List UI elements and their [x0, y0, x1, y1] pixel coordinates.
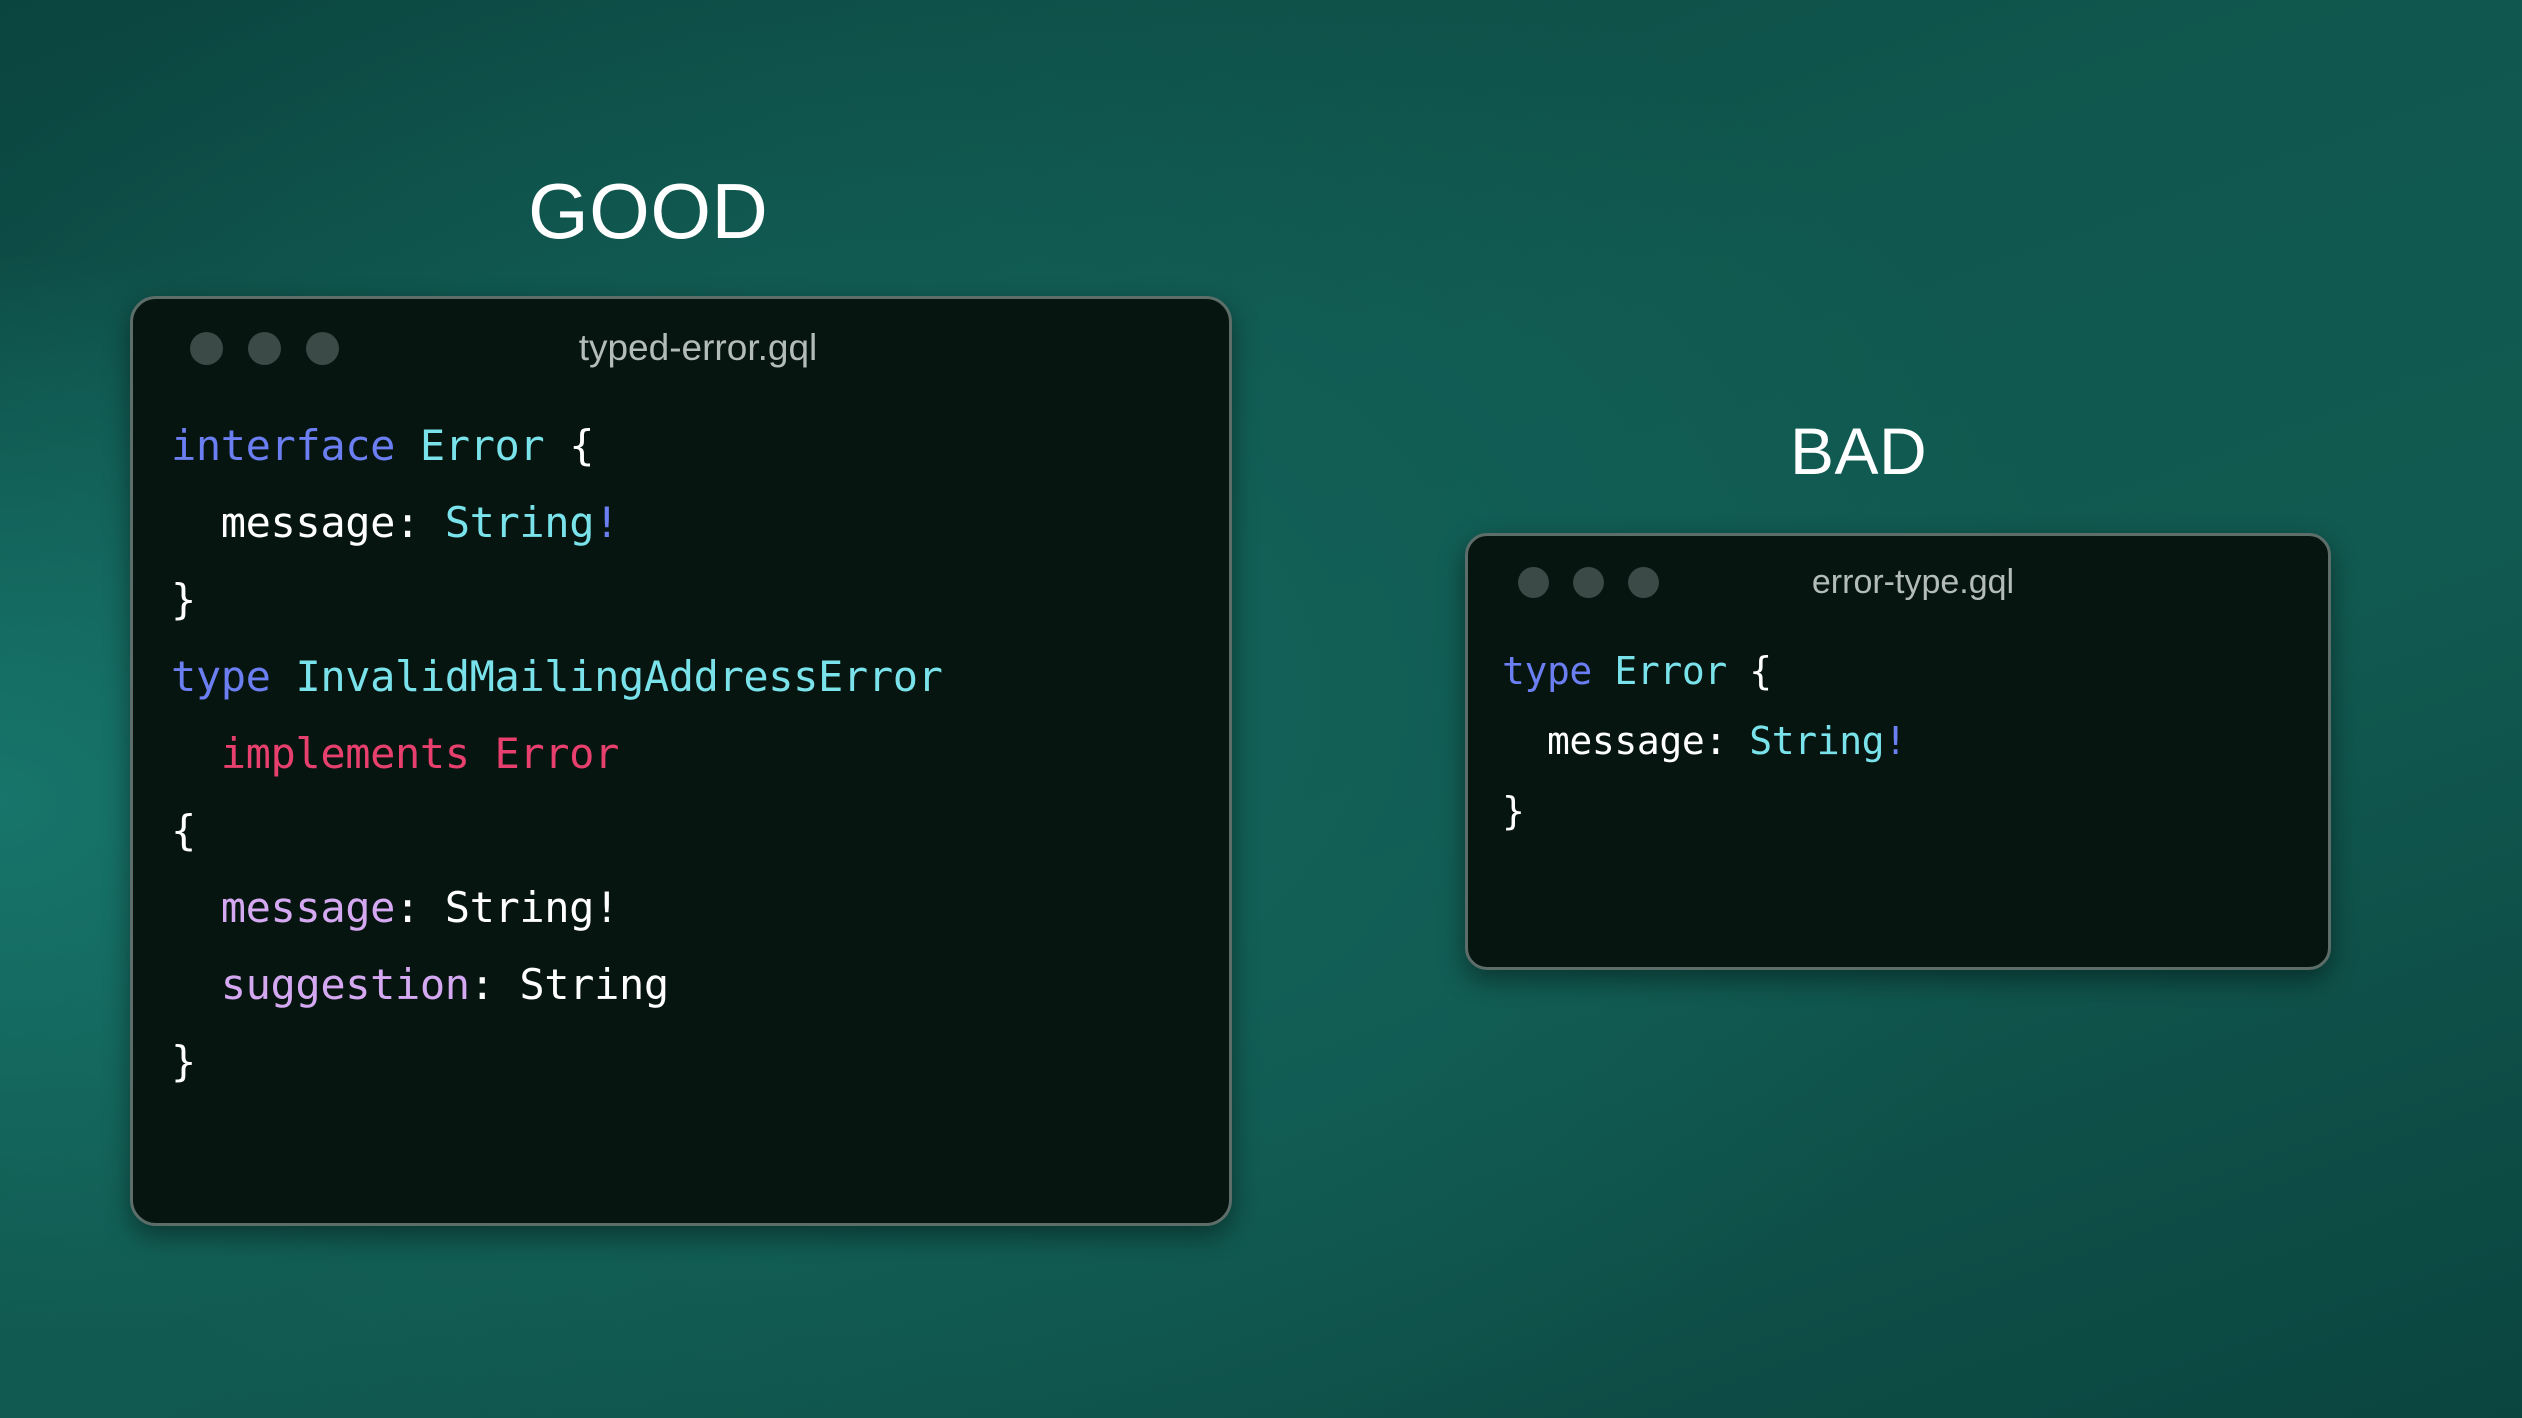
- code-line: message: String!: [171, 484, 1229, 561]
- code-line: interface Error {: [171, 407, 1229, 484]
- code-token-type-name: InvalidMailingAddressError: [295, 652, 942, 701]
- code-token-plain: {: [171, 806, 196, 855]
- minimize-dot-icon[interactable]: [248, 332, 281, 365]
- good-heading: GOOD: [528, 172, 768, 250]
- good-window-titlebar: typed-error.gql: [133, 299, 1229, 397]
- code-token-implements: implements Error: [171, 729, 619, 778]
- comparison-stage: GOOD typed-error.gql interface Error { m…: [0, 0, 2522, 1418]
- code-token-plain: {: [544, 421, 594, 470]
- close-dot-icon[interactable]: [190, 332, 223, 365]
- code-line: }: [171, 1023, 1229, 1100]
- code-line: }: [1502, 776, 2328, 846]
- code-token-bang: !: [1884, 719, 1906, 763]
- maximize-dot-icon[interactable]: [1628, 567, 1659, 598]
- good-code-block: interface Error { message: String!}type …: [133, 397, 1229, 1100]
- code-line: message: String!: [1502, 706, 2328, 776]
- code-token-type-name: String: [445, 498, 594, 547]
- code-line: type Error {: [1502, 636, 2328, 706]
- close-dot-icon[interactable]: [1518, 567, 1549, 598]
- code-token-plain: }: [171, 575, 196, 624]
- code-token-plain: {: [1727, 649, 1772, 693]
- code-token-plain: :: [395, 498, 445, 547]
- bad-code-block: type Error { message: String!}: [1468, 628, 2328, 846]
- code-line: message: String!: [171, 869, 1229, 946]
- code-token-plain: : String!: [395, 883, 619, 932]
- good-code-window: typed-error.gql interface Error { messag…: [130, 296, 1232, 1226]
- bad-code-window: error-type.gql type Error { message: Str…: [1465, 533, 2331, 970]
- code-token-plain: message: [1502, 719, 1704, 763]
- code-line: }: [171, 561, 1229, 638]
- code-token-field-name: message: [171, 883, 395, 932]
- code-token-plain: :: [1704, 719, 1749, 763]
- code-token-plain: [1592, 649, 1614, 693]
- code-token-bang: !: [594, 498, 619, 547]
- code-token-plain: [395, 421, 420, 470]
- code-line: type InvalidMailingAddressError: [171, 638, 1229, 715]
- maximize-dot-icon[interactable]: [306, 332, 339, 365]
- code-token-plain: }: [171, 1037, 196, 1086]
- code-line: suggestion: String: [171, 946, 1229, 1023]
- code-token-keyword: type: [1502, 649, 1592, 693]
- code-token-type-name: Error: [420, 421, 544, 470]
- code-token-type-name: Error: [1614, 649, 1726, 693]
- code-token-plain: }: [1502, 789, 1524, 833]
- bad-window-controls: [1518, 567, 1659, 598]
- code-line: {: [171, 792, 1229, 869]
- minimize-dot-icon[interactable]: [1573, 567, 1604, 598]
- code-token-plain: : String: [470, 960, 669, 1009]
- good-window-controls: [190, 332, 339, 365]
- code-token-plain: [271, 652, 296, 701]
- bad-heading: BAD: [1790, 418, 1927, 484]
- code-token-keyword: type: [171, 652, 271, 701]
- code-token-type-name: String: [1749, 719, 1884, 763]
- code-token-plain: message: [171, 498, 395, 547]
- code-token-keyword: interface: [171, 421, 395, 470]
- code-line: implements Error: [171, 715, 1229, 792]
- code-token-field-name: suggestion: [171, 960, 470, 1009]
- bad-window-titlebar: error-type.gql: [1468, 536, 2328, 628]
